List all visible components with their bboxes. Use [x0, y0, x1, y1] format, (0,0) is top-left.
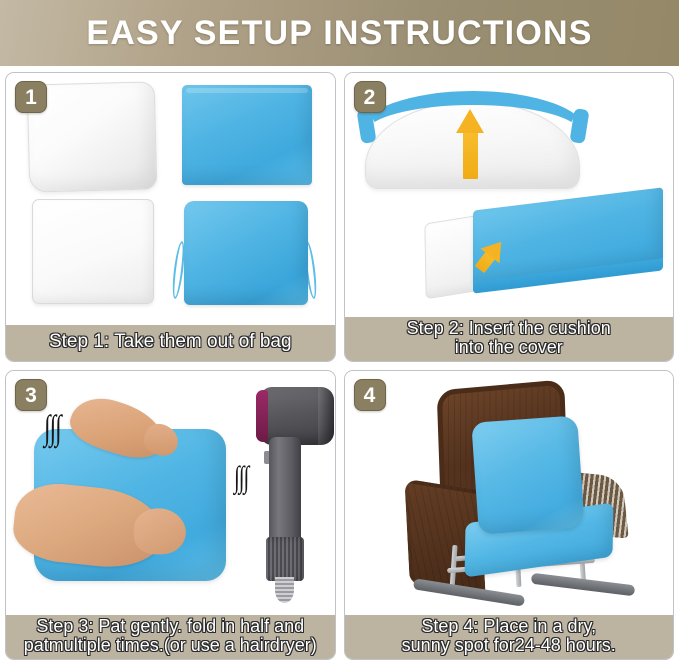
step-4-caption-line-1: Step 4: Place in a dry,	[402, 617, 616, 636]
step-number-2: 2	[364, 87, 376, 108]
step-number-4: 4	[364, 385, 376, 406]
step-4-caption-block: Step 4: Place in a dry, sunny spot for24…	[402, 617, 616, 655]
step-panel-3: 3 ∫∫∫ ∫∫∫ Step 3: Pat gently. fold in ha…	[5, 370, 336, 660]
steps-grid: 1 Step 1: Take them out of bag 2	[0, 66, 679, 663]
step-number-1: 1	[25, 87, 37, 108]
white-seat-cushion-icon	[32, 199, 154, 304]
step-4-illustration: 4	[345, 371, 674, 615]
step-number-badge-1: 1	[15, 81, 47, 113]
step-2-caption-bar: Step 2: Insert the cushion into the cove…	[345, 317, 674, 361]
infographic-page: EASY SETUP INSTRUCTIONS 1 Step 1: Take t…	[0, 0, 679, 663]
step-number-badge-3: 3	[15, 379, 47, 411]
step-4-caption-line-2: sunny spot for24-48 hours.	[402, 636, 616, 655]
step-3-caption-block: Step 3: Pat gently. fold in half and pat…	[24, 617, 317, 655]
step-number-3: 3	[25, 385, 37, 406]
page-title: EASY SETUP INSTRUCTIONS	[86, 14, 592, 53]
step-1-caption-bar: Step 1: Take them out of bag	[6, 325, 335, 361]
steam-squiggle-icon: ∫∫∫	[44, 412, 61, 447]
step-2-caption-line-1: Step 2: Insert the cushion	[407, 319, 611, 338]
step-2-caption-block: Step 2: Insert the cushion into the cove…	[407, 319, 611, 357]
step-1-caption-text: Step 1: Take them out of bag	[49, 332, 292, 352]
header-banner: EASY SETUP INSTRUCTIONS	[0, 0, 679, 66]
step-panel-4: 4	[344, 370, 675, 660]
step-number-badge-2: 2	[354, 81, 386, 113]
step-2-caption-line-2: into the cover	[407, 338, 611, 357]
step-1-illustration: 1	[6, 73, 335, 325]
step-2-illustration: 2	[345, 73, 674, 317]
hair-dryer-icon	[242, 387, 335, 599]
step-number-badge-4: 4	[354, 379, 386, 411]
blue-back-cushion-icon	[471, 415, 585, 534]
steam-squiggle-icon: ∫∫∫	[234, 462, 248, 492]
step-4-caption-bar: Step 4: Place in a dry, sunny spot for24…	[345, 615, 674, 659]
step-3-illustration: 3 ∫∫∫ ∫∫∫	[6, 371, 335, 615]
step-3-caption-line-2: patmultiple times.(or use a hairdryer)	[24, 636, 317, 655]
step-panel-2: 2 Step 2: Insert the cushion int	[344, 72, 675, 362]
blue-cushion-bag-icon	[184, 201, 308, 305]
blue-pillow-cover-icon	[182, 85, 312, 185]
step-panel-1: 1 Step 1: Take them out of bag	[5, 72, 336, 362]
step-3-caption-bar: Step 3: Pat gently. fold in half and pat…	[6, 615, 335, 659]
blue-flat-cover-icon	[473, 187, 663, 284]
step-3-caption-line-1: Step 3: Pat gently. fold in half and	[24, 617, 317, 636]
wicker-rocking-chair-icon	[393, 381, 643, 603]
